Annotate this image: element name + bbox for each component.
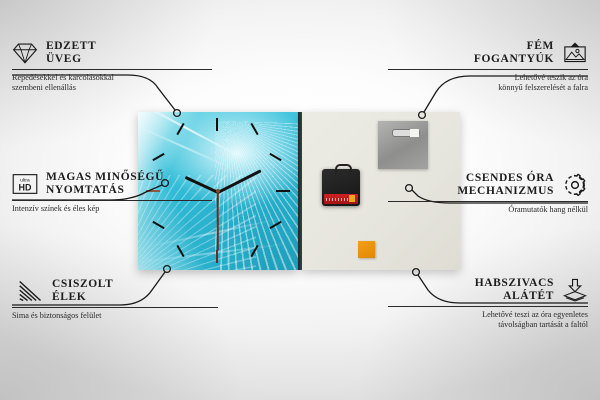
feature-title-line1: CSENDES ÓRA: [457, 172, 554, 185]
feature-desc-line1: Repedésekkel és karcolásokkal: [12, 73, 212, 83]
feature-title-line1: EDZETT: [46, 40, 96, 53]
feature-header: EDZETT ÜVEG: [12, 40, 212, 65]
feature-divider: [12, 200, 212, 201]
dial-tick: [216, 118, 218, 131]
feature-title: CSENDES ÓRA MECHANIZMUS: [457, 172, 554, 197]
feature-desc-line1: Lehetővé teszik az óra: [388, 73, 588, 83]
feature-divider: [388, 306, 588, 307]
feature-description: Óramutatók hang nélkül: [388, 205, 588, 215]
feature-title: HABSZIVACS ALÁTÉT: [475, 277, 554, 302]
feature-divider: [388, 69, 588, 70]
feature-title-line1: CSISZOLT: [52, 278, 113, 291]
feature-title-line2: MECHANIZMUS: [457, 185, 554, 198]
dial-tick: [216, 250, 218, 263]
feature-header: ultra HD MAGAS MINŐSÉGŰ NYOMTATÁS: [12, 171, 212, 196]
battery: [324, 194, 358, 204]
feature-description: Intenzív színek és éles kép: [12, 204, 212, 214]
feature-desc-line1: Intenzív színek és éles kép: [12, 204, 212, 214]
diamond-icon: [12, 41, 38, 65]
battery-plus-terminal: [349, 195, 355, 202]
polished-edge-icon: [18, 279, 44, 303]
gear-icon: [562, 173, 588, 197]
feature-tempered-glass: EDZETT ÜVEG Repedésekkel és karcolásokka…: [12, 40, 212, 93]
feature-divider: [388, 201, 588, 202]
feature-desc-line1: Sima és biztonságos felület: [12, 311, 218, 321]
feature-title-line2: ÜVEG: [46, 53, 96, 66]
feature-foam-pad: HABSZIVACS ALÁTÉT Lehetővé teszi az óra …: [388, 277, 588, 330]
dial-tick: [276, 190, 290, 192]
feature-title-line2: FOGANTYÚK: [474, 53, 554, 66]
ultra-hd-icon-large-text: HD: [19, 182, 32, 192]
feature-title: CSISZOLT ÉLEK: [52, 278, 113, 303]
clock-mechanism-box: [322, 169, 360, 206]
feature-desc-line1: Óramutatók hang nélkül: [388, 205, 588, 215]
foam-press-icon: [562, 278, 588, 302]
feature-title-line2: ÉLEK: [52, 291, 113, 304]
feature-divider: [12, 69, 212, 70]
feature-title: EDZETT ÜVEG: [46, 40, 96, 65]
feature-title: MAGAS MINŐSÉGŰ NYOMTATÁS: [46, 171, 164, 196]
feature-title-line2: ALÁTÉT: [475, 290, 554, 303]
feature-header: CSENDES ÓRA MECHANIZMUS: [388, 172, 588, 197]
infographic-canvas: EDZETT ÜVEG Repedésekkel és karcolásokka…: [0, 0, 600, 400]
feature-silent-mechanism: CSENDES ÓRA MECHANIZMUS Óramutatók hang …: [388, 172, 588, 215]
feature-desc-line2: távolságban tartását a faltól: [388, 320, 588, 330]
feature-desc-line2: könnyű felszerelését a falra: [388, 83, 588, 93]
foam-pad-square: [358, 241, 375, 258]
feature-title-line1: FÉM: [474, 40, 554, 53]
feature-header: FÉM FOGANTYÚK: [388, 40, 588, 65]
feature-description: Sima és biztonságos felület: [12, 311, 218, 321]
hanger-slot: [392, 129, 420, 137]
hands-center-pin: [216, 189, 220, 193]
feature-description: Repedésekkel és karcolásokkal szembeni e…: [12, 73, 212, 93]
feature-description: Lehetővé teszi az óra egyenletes távolsá…: [388, 310, 588, 330]
feature-desc-line2: szembeni ellenállás: [12, 83, 212, 93]
feature-title-line1: HABSZIVACS: [475, 277, 554, 290]
feature-divider: [12, 307, 218, 308]
feature-description: Lehetővé teszik az óra könnyű felszerelé…: [388, 73, 588, 93]
feature-desc-line1: Lehetővé teszi az óra egyenletes: [388, 310, 588, 320]
feature-polished-edges: CSISZOLT ÉLEK Sima és biztonságos felüle…: [18, 278, 218, 321]
feature-title: FÉM FOGANTYÚK: [474, 40, 554, 65]
second-hand: [217, 193, 219, 251]
ultra-hd-icon: ultra HD: [12, 172, 38, 196]
feature-title-line2: NYOMTATÁS: [46, 184, 164, 197]
feature-metal-handles: FÉM FOGANTYÚK Lehetővé teszik az óra kön…: [388, 40, 588, 93]
metal-hanger-plate: [378, 121, 428, 169]
battery-label-lines: [326, 198, 348, 201]
feature-header: HABSZIVACS ALÁTÉT: [388, 277, 588, 302]
feature-title-line1: MAGAS MINŐSÉGŰ: [46, 171, 164, 184]
picture-hanger-icon: [562, 41, 588, 65]
mechanism-hook: [335, 164, 352, 174]
feature-high-quality-print: ultra HD MAGAS MINŐSÉGŰ NYOMTATÁS Intenz…: [12, 171, 212, 214]
feature-header: CSISZOLT ÉLEK: [18, 278, 218, 303]
